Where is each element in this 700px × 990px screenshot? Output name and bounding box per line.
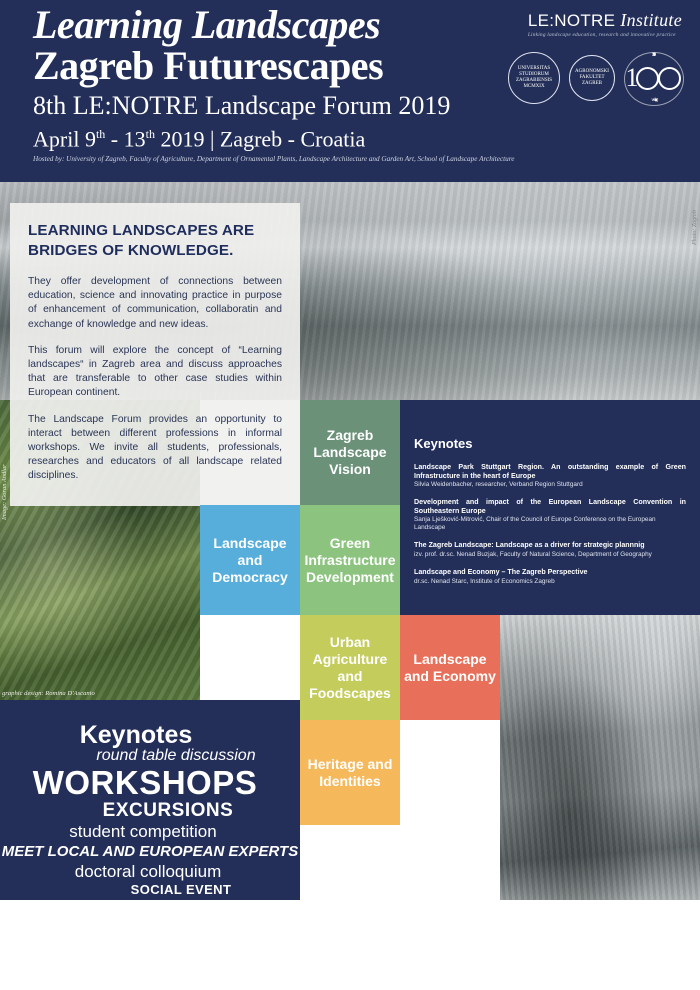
program-meet-experts: MEET LOCAL AND EUROPEAN EXPERTS <box>0 842 300 861</box>
theme-tile-landscape-and-democracy[interactable]: Landscape and Democracy <box>200 505 300 615</box>
keynote-item: Landscape and Economy – The Zagreb Persp… <box>414 568 686 586</box>
sponsors-footer: gold sponsor silver sponsor bronze spons… <box>0 900 700 990</box>
date-mid: - 13 <box>105 126 145 151</box>
theme-tile-urban-agriculture-and-foodscapes[interactable]: Urban Agriculture and Foodscapes <box>300 615 400 720</box>
program-keynotes: Keynotes <box>0 722 300 749</box>
university-seal-icon: UNIVERSITAS STUDIORUM ZAGRABIENSIS MCMXI… <box>508 52 560 104</box>
program-excursions: EXCURSIONS <box>36 800 300 822</box>
title-line-1: Learning Landscapes <box>33 2 380 47</box>
keynote-author: dr.sc. Nenad Starc, Institute of Economi… <box>414 578 686 586</box>
keynote-title: Landscape and Economy – The Zagreb Persp… <box>414 568 686 577</box>
keynote-title: Landscape Park Stuttgart Region. An outs… <box>414 463 686 480</box>
theme-tile-landscape-and-economy[interactable]: Landscape and Economy <box>400 615 500 720</box>
date-ordinal-1: th <box>96 127 105 141</box>
keynote-item: Development and impact of the European L… <box>414 498 686 532</box>
program-social-event: SOCIAL EVENT <box>62 882 300 898</box>
hosted-by-text: Hosted by: University of Zagreb, Faculty… <box>33 155 653 164</box>
poster: Learning Landscapes Zagreb Futurescapes … <box>0 0 700 990</box>
university-seals: UNIVERSITAS STUDIORUM ZAGRABIENSIS MCMXI… <box>508 52 682 104</box>
title-line-2: Zagreb Futurescapes <box>33 45 503 86</box>
faculty-seal-label: AGRONOMSKI FAKULTET ZAGREB <box>570 69 614 87</box>
program-workshops: WORKSHOPS <box>0 765 300 800</box>
theme-tile-heritage-and-identities[interactable]: Heritage and Identities <box>300 720 400 825</box>
theme-tile-zagreb-landscape-vision[interactable]: Zagreb Landscape Vision <box>300 400 400 505</box>
event-date: April 9th - 13th 2019 | Zagreb - Croatia <box>33 122 365 151</box>
lenotre-logo: LE:NOTRE Institute Linking landscape edu… <box>528 10 682 38</box>
lenotre-name: LE:NOTRE <box>528 11 615 30</box>
theme-tile-green-infrastructure-development[interactable]: Green Infrastructure Development <box>300 505 400 615</box>
program-student-competition: student competition <box>0 822 300 842</box>
centenary-url: www.agr.hr <box>624 98 682 103</box>
poster-header: Learning Landscapes Zagreb Futurescapes … <box>0 0 700 182</box>
centenary-years: 1919 · 2019 <box>624 53 682 58</box>
faculty-seal-icon: AGRONOMSKI FAKULTET ZAGREB <box>569 55 615 101</box>
program-doctoral-colloquium: doctoral colloquium <box>0 861 300 882</box>
lenotre-institute: Institute <box>620 10 682 30</box>
keynotes-heading: Keynotes <box>414 436 686 451</box>
keynote-item: The Zagreb Landscape: Landscape as a dri… <box>414 541 686 559</box>
photo-credit-right: Photo: Zagreb <box>692 210 698 245</box>
keynote-author: izv. prof. dr.sc. Nenad Buzjak, Faculty … <box>414 551 686 559</box>
program-panel: Keynotes round table discussion WORKSHOP… <box>0 700 300 900</box>
centenary-100-icon: 1919 · 2019 1 www.agr.hr <box>624 52 682 104</box>
keynote-title: The Zagreb Landscape: Landscape as a dri… <box>414 541 686 550</box>
image-credit-left: Image: Goran Andlar <box>1 464 8 520</box>
program-round-table: round table discussion <box>52 747 300 765</box>
lenotre-tagline: Linking landscape education, research an… <box>528 32 682 38</box>
intro-panel: LEARNING LANDSCAPES ARE BRIDGES OF KNOWL… <box>10 203 300 506</box>
intro-paragraph-2: This forum will explore the concept of “… <box>28 344 282 401</box>
keynote-author: Sanja Lješković-Mitrović, Chair of the C… <box>414 516 686 532</box>
graphic-design-credit: graphic design: Romina D'Ascanio <box>2 690 95 697</box>
keynote-title: Development and impact of the European L… <box>414 498 686 515</box>
page-title: Learning Landscapes Zagreb Futurescapes <box>33 4 503 86</box>
intro-heading: LEARNING LANDSCAPES ARE BRIDGES OF KNOWL… <box>28 221 282 261</box>
date-suffix: 2019 | Zagreb - Croatia <box>155 126 365 151</box>
keynotes-panel: Keynotes Landscape Park Stuttgart Region… <box>400 400 700 615</box>
river-aerial-photo <box>500 615 700 900</box>
date-ordinal-2: th <box>146 127 155 141</box>
intro-paragraph-3: The Landscape Forum provides an opportun… <box>28 413 282 484</box>
date-prefix: April 9 <box>33 126 96 151</box>
forum-subtitle: 8th LE:NOTRE Landscape Forum 2019 <box>33 92 450 120</box>
keynote-item: Landscape Park Stuttgart Region. An outs… <box>414 463 686 489</box>
keynote-author: Silvia Weidenbacher, researcher, Verband… <box>414 481 686 489</box>
university-seal-label: UNIVERSITAS STUDIORUM ZAGRABIENSIS MCMXI… <box>509 66 559 90</box>
intro-paragraph-1: They offer development of connections be… <box>28 275 282 332</box>
